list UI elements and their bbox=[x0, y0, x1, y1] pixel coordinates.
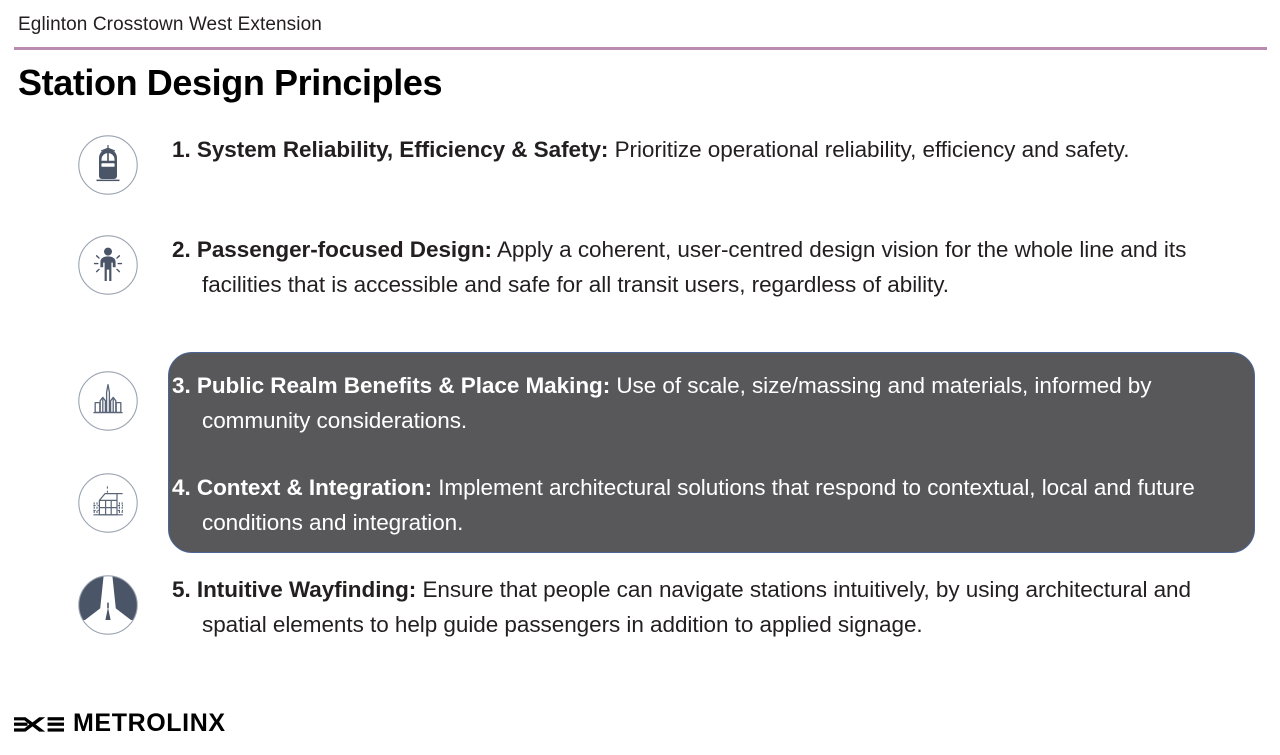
principle-body: Prioritize operational reliability, effi… bbox=[615, 137, 1130, 162]
principle-icon-wrap bbox=[70, 572, 146, 636]
principle-lead: Intuitive Wayfinding: bbox=[197, 577, 416, 602]
principle-lead: Passenger-focused Design: bbox=[197, 237, 492, 262]
principle-number: 4. bbox=[172, 475, 191, 500]
list-item: 5. Intuitive Wayfinding: Ensure that peo… bbox=[70, 572, 1270, 642]
principle-icon-wrap bbox=[70, 368, 146, 432]
slide: Eglinton Crosstown West Extension Statio… bbox=[0, 0, 1280, 755]
principle-text: 4. Context & Integration: Implement arch… bbox=[146, 470, 1270, 540]
list-item: 3. Public Realm Benefits & Place Making:… bbox=[70, 368, 1270, 438]
metrolinx-logo: METROLINX bbox=[14, 711, 226, 736]
building-elevation-icon bbox=[77, 472, 139, 534]
principle-icon-wrap bbox=[70, 232, 146, 296]
city-skyline-icon bbox=[77, 370, 139, 432]
principle-lead: Context & Integration: bbox=[197, 475, 432, 500]
principle-number: 2. bbox=[172, 237, 191, 262]
principle-number: 5. bbox=[172, 577, 191, 602]
list-item: 1. System Reliability, Efficiency & Safe… bbox=[70, 132, 1270, 196]
principle-text: 1. System Reliability, Efficiency & Safe… bbox=[146, 132, 1270, 167]
principle-number: 1. bbox=[172, 137, 191, 162]
principle-text: 5. Intuitive Wayfinding: Ensure that peo… bbox=[146, 572, 1270, 642]
principle-number: 3. bbox=[172, 373, 191, 398]
header-divider bbox=[14, 47, 1267, 50]
principle-icon-wrap bbox=[70, 470, 146, 534]
principle-text: 3. Public Realm Benefits & Place Making:… bbox=[146, 368, 1270, 438]
list-item: 2. Passenger-focused Design: Apply a coh… bbox=[70, 232, 1270, 302]
metrolinx-wordmark: METROLINX bbox=[73, 711, 226, 736]
principle-text: 2. Passenger-focused Design: Apply a coh… bbox=[146, 232, 1270, 302]
principle-icon-wrap bbox=[70, 132, 146, 196]
breadcrumb-project-name: Eglinton Crosstown West Extension bbox=[18, 14, 322, 36]
standing-person-icon bbox=[77, 234, 139, 296]
list-item: 4. Context & Integration: Implement arch… bbox=[70, 470, 1270, 540]
principle-lead: Public Realm Benefits & Place Making: bbox=[197, 373, 610, 398]
principle-lead: System Reliability, Efficiency & Safety: bbox=[197, 137, 608, 162]
page-title: Station Design Principles bbox=[18, 62, 442, 104]
metrolinx-mark-icon bbox=[14, 713, 64, 735]
wayfinding-path-icon bbox=[77, 574, 139, 636]
train-front-icon bbox=[77, 134, 139, 196]
